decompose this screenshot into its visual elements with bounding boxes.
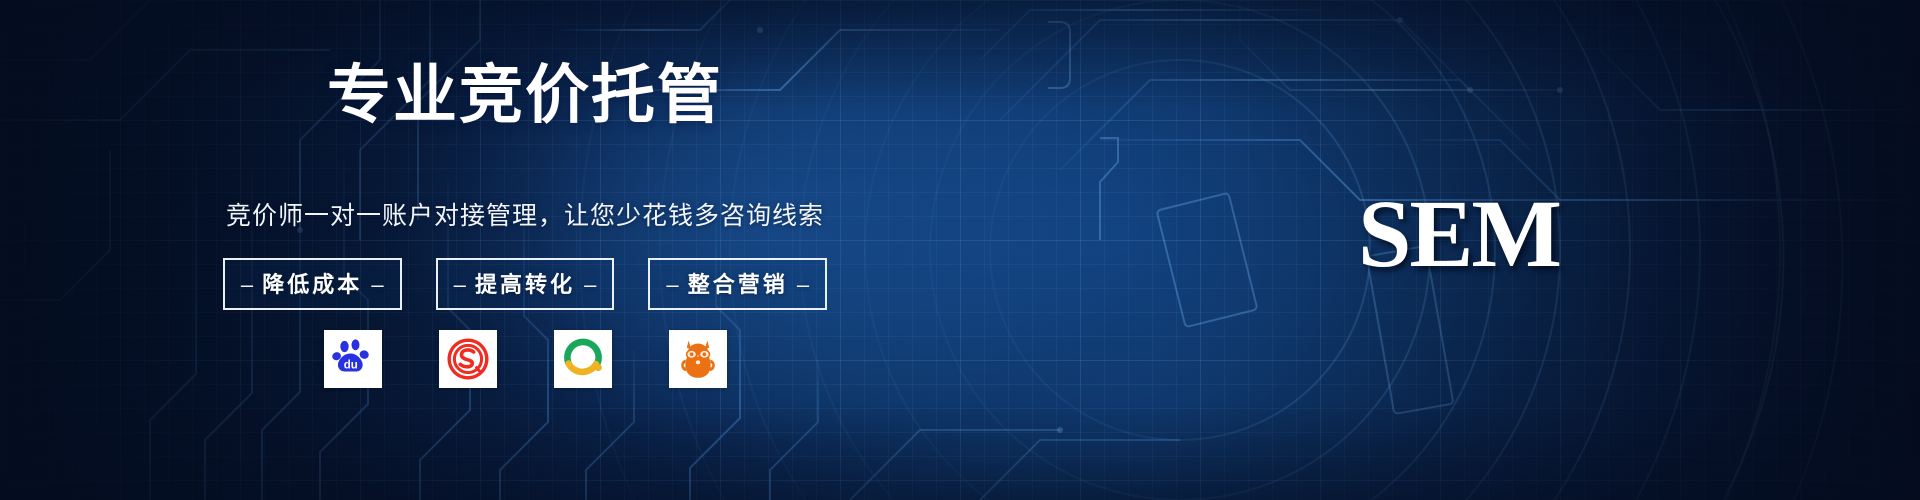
logo-tile-shenma[interactable] xyxy=(669,330,727,388)
feature-badge-marketing[interactable]: – 整合营销 – xyxy=(648,258,827,310)
feature-badge-list: – 降低成本 – – 提高转化 – – 整合营销 – xyxy=(0,258,1050,310)
badge-dash-left: – xyxy=(666,272,678,297)
feature-badge-cost[interactable]: – 降低成本 – xyxy=(223,258,402,310)
badge-dash-right: – xyxy=(584,272,596,297)
logo-tile-baidu[interactable]: du xyxy=(324,330,382,388)
sem-promo-banner: 专业竞价托管 竞价师一对一账户对接管理，让您少花钱多咨询线索 – 降低成本 – … xyxy=(0,0,1920,500)
badge-dash-left: – xyxy=(241,272,253,297)
badge-dash-left: – xyxy=(454,272,466,297)
badge-label: 整合营销 xyxy=(688,272,788,297)
badge-dash-right: – xyxy=(371,272,383,297)
baidu-logo-icon: du xyxy=(331,337,375,381)
logo-tile-sogou[interactable] xyxy=(439,330,497,388)
svg-text:du: du xyxy=(343,360,357,372)
sogou-logo-icon xyxy=(446,337,490,381)
badge-dash-right: – xyxy=(797,272,809,297)
shenma-logo-icon xyxy=(676,337,720,381)
sem-wordmark: SEM xyxy=(1358,186,1560,282)
page-title: 专业竞价托管 xyxy=(0,60,1050,132)
platform-logo-list: du xyxy=(0,330,1050,388)
banner-content: 专业竞价托管 竞价师一对一账户对接管理，让您少花钱多咨询线索 – 降低成本 – … xyxy=(0,0,1050,500)
badge-label: 提高转化 xyxy=(475,272,575,297)
subtitle: 竞价师一对一账户对接管理，让您少花钱多咨询线索 xyxy=(0,196,1050,232)
qihoo-360-logo-icon xyxy=(561,337,605,381)
feature-badge-conversion[interactable]: – 提高转化 – xyxy=(436,258,615,310)
logo-tile-360[interactable] xyxy=(554,330,612,388)
badge-label: 降低成本 xyxy=(262,272,362,297)
